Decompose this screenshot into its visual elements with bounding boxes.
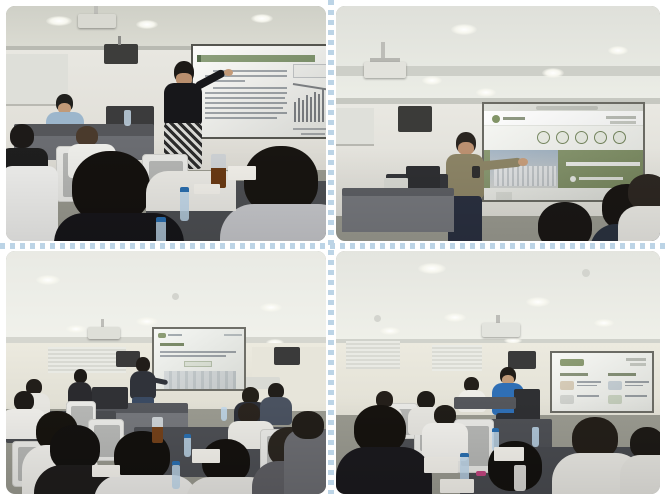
paper-notes — [440, 479, 474, 493]
photo-top-right — [336, 6, 660, 241]
ceiling-light — [451, 24, 477, 35]
drink-cup — [211, 154, 226, 188]
water-bottle — [221, 407, 227, 421]
projector — [88, 327, 120, 339]
attendee-foreground — [232, 146, 326, 241]
divider-horizontal — [0, 243, 666, 249]
ceiling-light — [251, 14, 273, 23]
site-icon — [537, 131, 550, 144]
ceiling-light — [542, 68, 564, 78]
table-skirt — [342, 192, 454, 232]
site-icon — [575, 131, 588, 144]
ceiling-light — [608, 46, 628, 55]
paper-notes — [192, 449, 220, 463]
paper-notes — [194, 184, 220, 194]
photo-top-left — [6, 6, 326, 241]
site-icon — [613, 131, 626, 144]
projector — [364, 62, 406, 78]
water-bottle — [172, 465, 180, 489]
site-icon — [556, 131, 569, 144]
ceiling-light — [422, 76, 442, 85]
attendee — [422, 405, 466, 459]
paper-notes — [494, 447, 524, 461]
wall-speaker — [274, 347, 300, 365]
ceiling-light — [136, 20, 158, 29]
water-bottle — [514, 465, 526, 491]
drink-cup — [152, 417, 163, 443]
wall-speaker — [398, 106, 432, 132]
paper-notes — [92, 465, 120, 477]
projector — [78, 14, 116, 28]
ceiling-light — [380, 327, 400, 335]
water-bottle — [156, 221, 166, 241]
ceiling-light — [66, 325, 86, 333]
ceiling-light — [136, 317, 158, 326]
photo-bottom-left — [6, 251, 326, 494]
water-bottle — [184, 437, 191, 457]
ceiling-light — [594, 319, 614, 327]
site-icon — [594, 131, 607, 144]
photo-bottom-right — [336, 251, 660, 494]
photo-collage — [0, 0, 666, 494]
ceiling-light — [46, 16, 72, 26]
paper-notes — [228, 166, 256, 180]
ceiling-light — [260, 303, 282, 312]
ceiling-light — [526, 297, 550, 307]
av-cabinet — [92, 387, 128, 409]
ceiling-light — [36, 275, 60, 285]
projector — [482, 323, 520, 337]
paper-notes — [424, 457, 458, 473]
ceiling-light — [476, 88, 496, 97]
wall-speaker — [104, 44, 138, 64]
water-bottle — [124, 110, 131, 126]
attendee-foreground — [624, 427, 660, 494]
ceiling-light — [418, 263, 446, 274]
attendee-foreground — [344, 405, 422, 494]
attendee-foreground — [624, 174, 660, 241]
ceiling-light — [444, 313, 466, 322]
av-cabinet — [514, 389, 540, 423]
water-bottle — [180, 191, 189, 221]
attendee-foreground — [284, 411, 326, 494]
attendee — [6, 166, 58, 241]
projection-screen — [550, 351, 654, 413]
attendee-foreground — [532, 202, 602, 241]
slide-content — [552, 353, 652, 411]
water-bottle — [532, 427, 539, 447]
